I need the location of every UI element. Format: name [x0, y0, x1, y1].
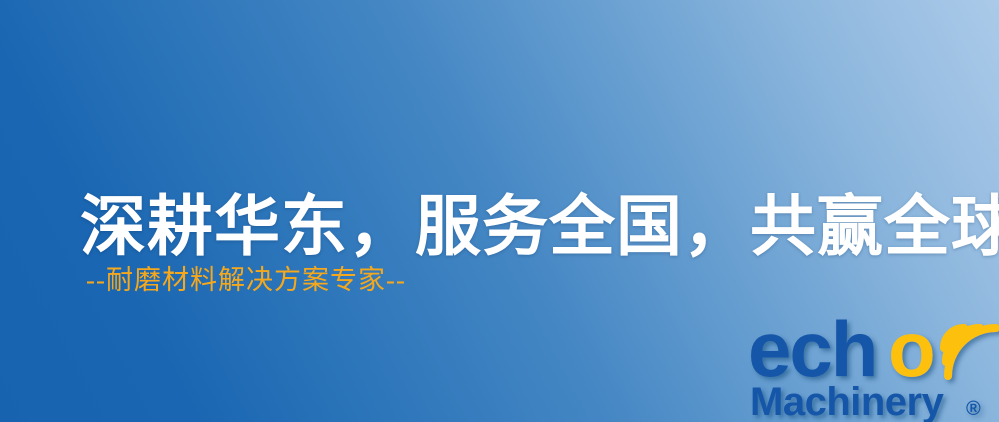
banner-headline: 深耕华东，服务全国，共赢全球 [80, 192, 999, 263]
echo-machinery-logo: echo Machinery ech o Machine [748, 300, 999, 422]
signal-waves-icon [944, 328, 996, 376]
banner-subtitle: --耐磨材料解决方案专家-- [86, 266, 406, 296]
svg-text:Machinery: Machinery [750, 380, 945, 422]
logo-graphic: ech o Machinery ® [748, 300, 999, 422]
logo-tagline-graphic: Machinery ® [750, 380, 981, 422]
promo-banner: 深耕华东，服务全国，共赢全球 --耐磨材料解决方案专家-- echo Machi… [0, 0, 999, 422]
svg-text:®: ® [966, 398, 981, 420]
